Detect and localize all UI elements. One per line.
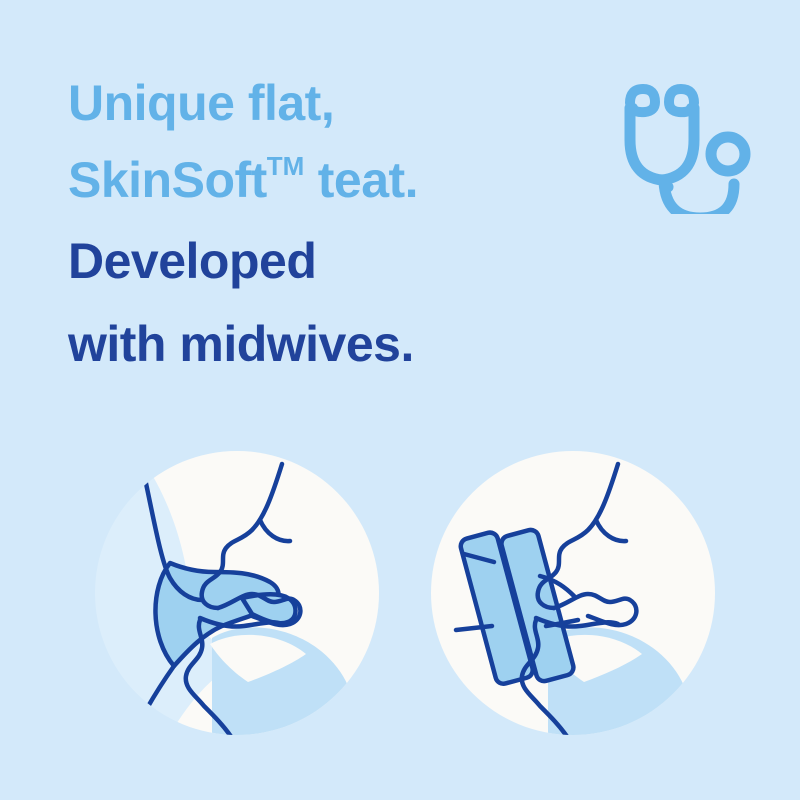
headline-line-2: SkinSoftTM teat. (68, 135, 588, 212)
brand-name-skinsoft: SkinSoft (68, 152, 267, 208)
headline-line-3: Developed (68, 230, 588, 293)
trademark-symbol: TM (267, 151, 305, 181)
headline-line-2-suffix: teat. (304, 152, 418, 208)
headline-line-4: with midwives. (68, 313, 588, 376)
headline-line-1: Unique flat, (68, 72, 588, 135)
poster-canvas: Unique flat, SkinSoftTM teat. Developed … (0, 0, 800, 800)
illustration-breastfeeding (92, 448, 382, 738)
stethoscope-icon (608, 68, 754, 214)
illustration-bottle-teat (428, 448, 718, 738)
headline-block: Unique flat, SkinSoftTM teat. Developed … (68, 72, 588, 376)
